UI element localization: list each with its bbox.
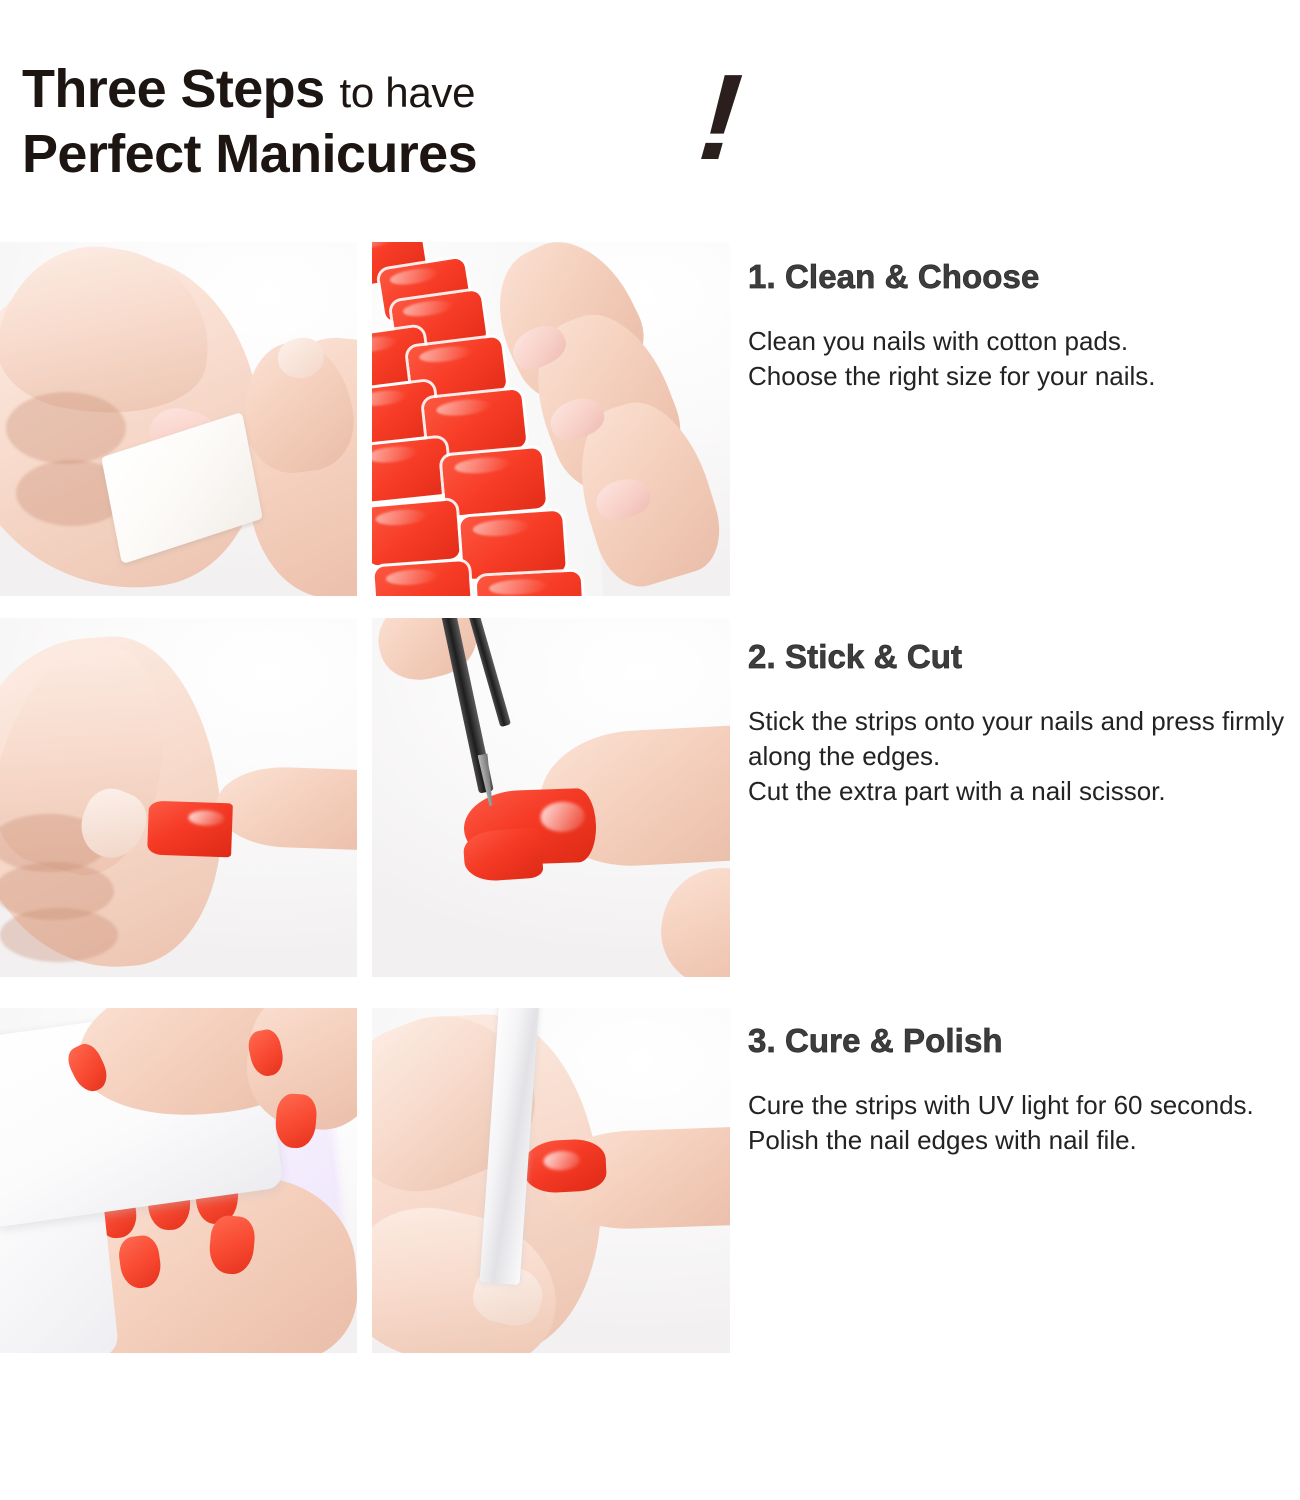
step-3: 3. Cure & Polish Cure the strips with UV… [748, 1022, 1300, 1158]
photo-choose-strip-size [372, 242, 730, 596]
step-1: 1. Clean & Choose Clean you nails with c… [748, 258, 1300, 394]
photo-cut-extra-with-nail-scissor [372, 618, 730, 977]
title-bold-perfect-manicures: Perfect Manicures [22, 127, 477, 181]
step-2-heading: 2. Stick & Cut [748, 638, 1300, 676]
title-line-2: Perfect Manicures [22, 127, 782, 181]
title-line-1: Three Steps to have [22, 62, 782, 116]
excess-strip-overhang [462, 827, 543, 882]
step-1-heading: 1. Clean & Choose [748, 258, 1300, 296]
red-painted-nail [523, 1138, 608, 1194]
step-2-line-2: Cut the extra part with a nail scissor. [748, 774, 1300, 809]
step-2-line-1: Stick the strips onto your nails and pre… [748, 704, 1300, 774]
step-2-body: Stick the strips onto your nails and pre… [748, 704, 1300, 809]
photo-stick-strip-onto-nail [0, 618, 357, 977]
step-1-body: Clean you nails with cotton pads. Choose… [748, 324, 1300, 394]
step-3-line-2: Polish the nail edges with nail file. [748, 1123, 1300, 1158]
manicure-instructions-page: Three Steps to have Perfect Manicures ! [0, 0, 1300, 1500]
photo-cure-with-uv-lamp [0, 1008, 357, 1353]
step-3-line-1: Cure the strips with UV light for 60 sec… [748, 1088, 1300, 1123]
step-1-line-1: Clean you nails with cotton pads. [748, 324, 1300, 359]
page-title: Three Steps to have Perfect Manicures [22, 62, 782, 181]
step-3-heading: 3. Cure & Polish [748, 1022, 1300, 1060]
step-3-body: Cure the strips with UV light for 60 sec… [748, 1088, 1300, 1158]
red-nail-strip [147, 801, 233, 858]
step-2: 2. Stick & Cut Stick the strips onto you… [748, 638, 1300, 809]
photo-clean-nail-with-cotton-pad [0, 242, 357, 596]
photo-polish-edges-with-nail-file [372, 1008, 730, 1353]
title-regular-to-have: to have [340, 72, 476, 114]
step-1-line-2: Choose the right size for your nails. [748, 359, 1300, 394]
title-bold-three-steps: Three Steps [22, 62, 325, 116]
